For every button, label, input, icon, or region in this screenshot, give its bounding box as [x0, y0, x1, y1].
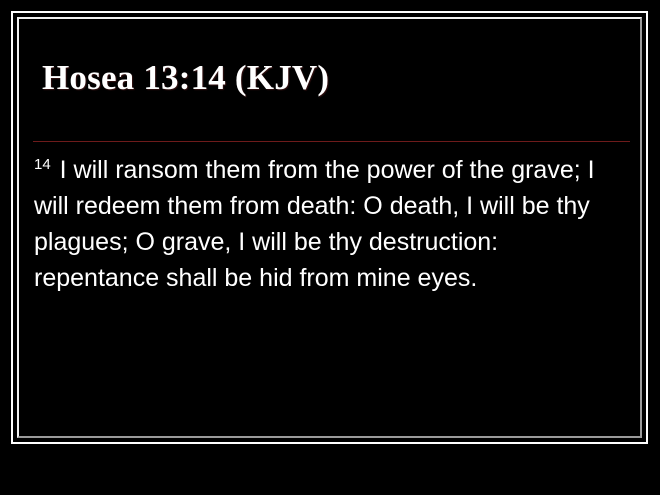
- verse-block: 14 I will ransom them from the power of …: [34, 152, 630, 296]
- verse-body-text: I will ransom them from the power of the…: [34, 156, 595, 292]
- title-block: Hosea 13:14 (KJV): [42, 58, 612, 98]
- verse-number: 14: [34, 156, 53, 173]
- page-title: Hosea 13:14 (KJV): [42, 58, 612, 98]
- slide-content-area: Hosea 13:14 (KJV) 14 I will ransom them …: [24, 24, 636, 432]
- verse-paragraph: 14 I will ransom them from the power of …: [34, 152, 630, 296]
- title-divider: [33, 141, 630, 142]
- presentation-slide: Hosea 13:14 (KJV) 14 I will ransom them …: [0, 0, 660, 495]
